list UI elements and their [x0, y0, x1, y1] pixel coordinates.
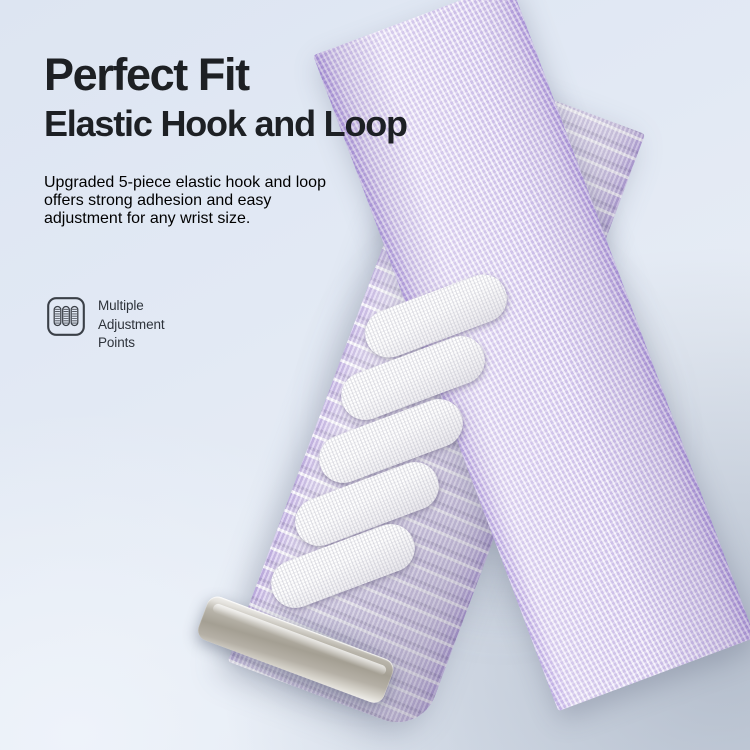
headline-secondary: Elastic Hook and Loop: [44, 104, 474, 144]
description-line-3: adjustment for any wrist size.: [44, 210, 474, 228]
marketing-copy-block: Perfect Fit Elastic Hook and Loop Upgrad…: [44, 52, 474, 244]
headline-primary: Perfect Fit: [44, 52, 474, 98]
adjustment-points-icon: [46, 296, 86, 337]
feature-label-line-3: Points: [98, 334, 165, 353]
product-feature-banner: Perfect Fit Elastic Hook and Loop Upgrad…: [0, 0, 750, 750]
feature-badge-label: Multiple Adjustment Points: [98, 296, 165, 353]
description-line-2: offers strong adhesion and easy: [44, 192, 474, 210]
feature-label-line-1: Multiple: [98, 297, 165, 316]
feature-label-line-2: Adjustment: [98, 316, 165, 335]
feature-badge: Multiple Adjustment Points: [46, 296, 165, 353]
description-line-1: Upgraded 5-piece elastic hook and loop: [44, 174, 474, 192]
